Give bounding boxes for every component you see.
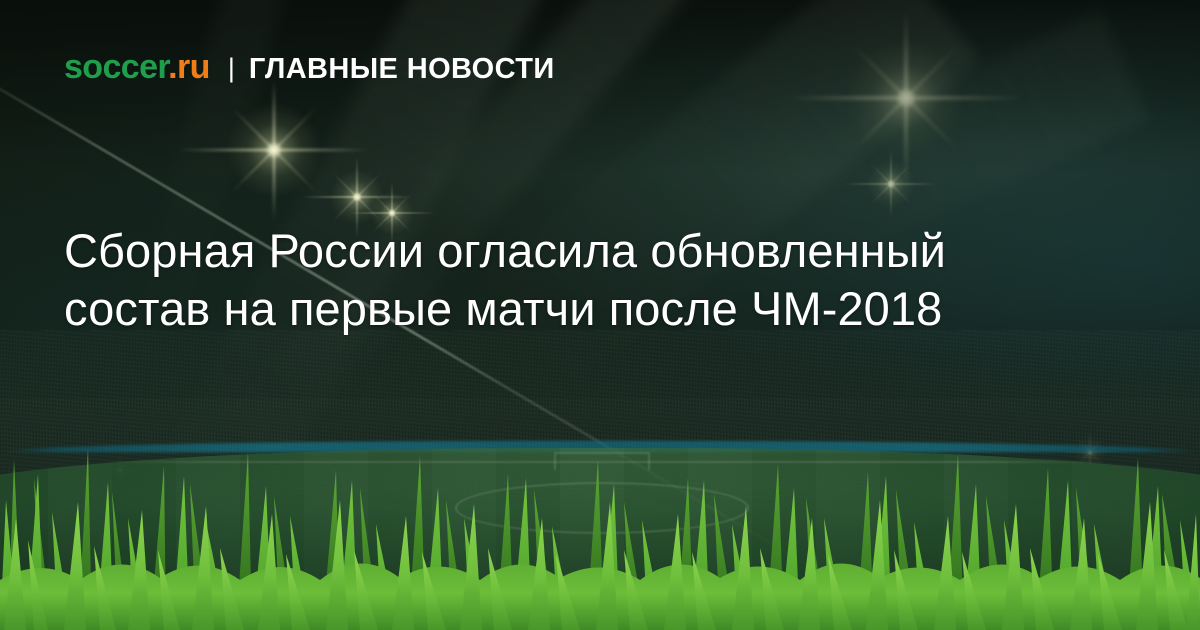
card-header: soccer.ru | ГЛАВНЫЕ НОВОСТИ (64, 50, 555, 84)
logo-tld-text: .ru (168, 48, 210, 86)
page-title: Сборная России огласила обновленный сост… (64, 222, 1004, 338)
soccer-ru-logo[interactable]: soccer.ru (64, 50, 210, 84)
pitch-shading (0, 448, 1200, 630)
header-section-label: ГЛАВНЫЕ НОВОСТИ (249, 55, 555, 84)
header-separator: | (228, 55, 235, 82)
news-share-card: soccer.ru | ГЛАВНЫЕ НОВОСТИ Сборная Росс… (0, 0, 1200, 630)
logo-name-text: soccer (64, 48, 168, 86)
